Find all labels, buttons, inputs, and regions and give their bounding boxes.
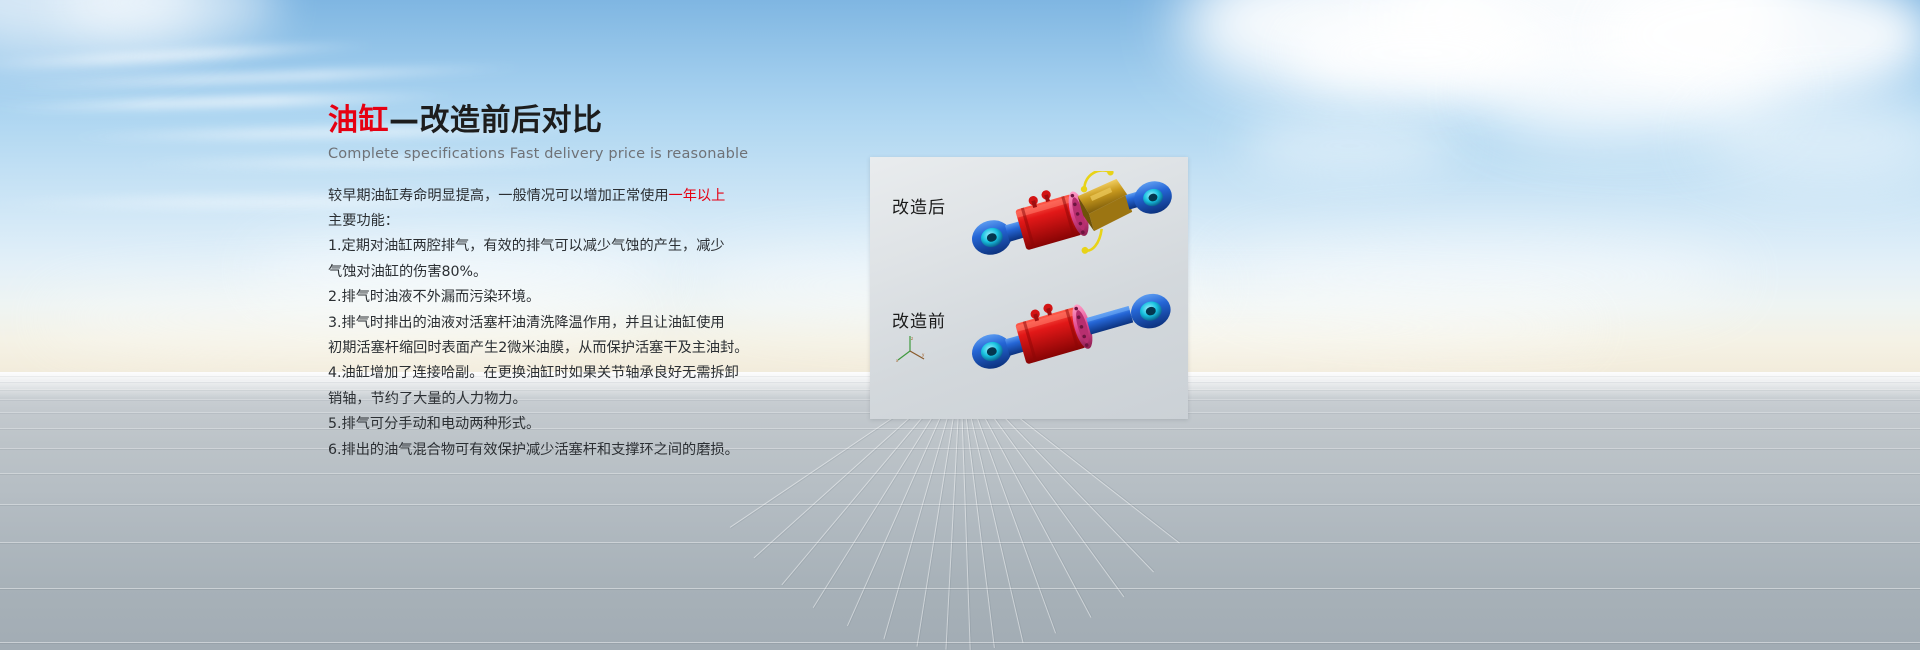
- body-line-9: 销轴，节约了大量的人力物力。: [328, 387, 748, 412]
- banner-text-column: 油缸—改造前后对比 Complete specifications Fast d…: [328, 104, 748, 463]
- page-subtitle: Complete specifications Fast delivery pr…: [328, 146, 748, 162]
- body-line-10: 5.排气可分手动和电动两种形式。: [328, 412, 748, 437]
- axis-gizmo-icon: z x y: [896, 335, 926, 363]
- body-line-4: 气蚀对油缸的伤害80%。: [328, 260, 748, 285]
- product-comparison-image: 改造后 改造前 z x y: [870, 157, 1188, 419]
- body-line-11: 6.排出的油气混合物可有效保护减少活塞杆和支撑环之间的磨损。: [328, 438, 748, 463]
- body-line-7: 初期活塞杆缩回时表面产生2微米油膜，从而保护活塞干及主油封。: [328, 336, 748, 361]
- label-after-modification: 改造后: [892, 193, 946, 218]
- body-line-5: 2.排气时油液不外漏而污染环境。: [328, 285, 748, 310]
- title-highlight: 油缸: [328, 103, 389, 138]
- svg-text:z: z: [911, 336, 913, 341]
- body-line-6: 3.排气时排出的油液对活塞杆油清洗降温作用，并且让油缸使用: [328, 311, 748, 336]
- svg-text:y: y: [922, 352, 925, 357]
- body-line-1: 较早期油缸寿命明显提高，一般情况可以增加正常使用一年以上: [328, 184, 748, 209]
- body-line-8: 4.油缸增加了连接哈副。在更换油缸时如果关节轴承良好无需拆卸: [328, 361, 748, 386]
- svg-text:x: x: [896, 358, 899, 363]
- cylinder-before-modification: [966, 285, 1178, 397]
- label-before-modification: 改造前: [892, 307, 946, 332]
- banner-canvas: 油缸—改造前后对比 Complete specifications Fast d…: [0, 0, 1920, 650]
- body-line-3: 1.定期对油缸两腔排气，有效的排气可以减少气蚀的产生，减少: [328, 234, 748, 259]
- body-line-1-text: 较早期油缸寿命明显提高，一般情况可以增加正常使用: [328, 188, 669, 204]
- body-line-2: 主要功能：: [328, 209, 748, 234]
- title-rest: —改造前后对比: [389, 103, 603, 138]
- cylinder-after-modification: [966, 171, 1178, 283]
- page-title: 油缸—改造前后对比: [328, 104, 748, 139]
- body-line-1-highlight: 一年以上: [669, 188, 726, 204]
- feature-description: 较早期油缸寿命明显提高，一般情况可以增加正常使用一年以上 主要功能： 1.定期对…: [328, 184, 748, 463]
